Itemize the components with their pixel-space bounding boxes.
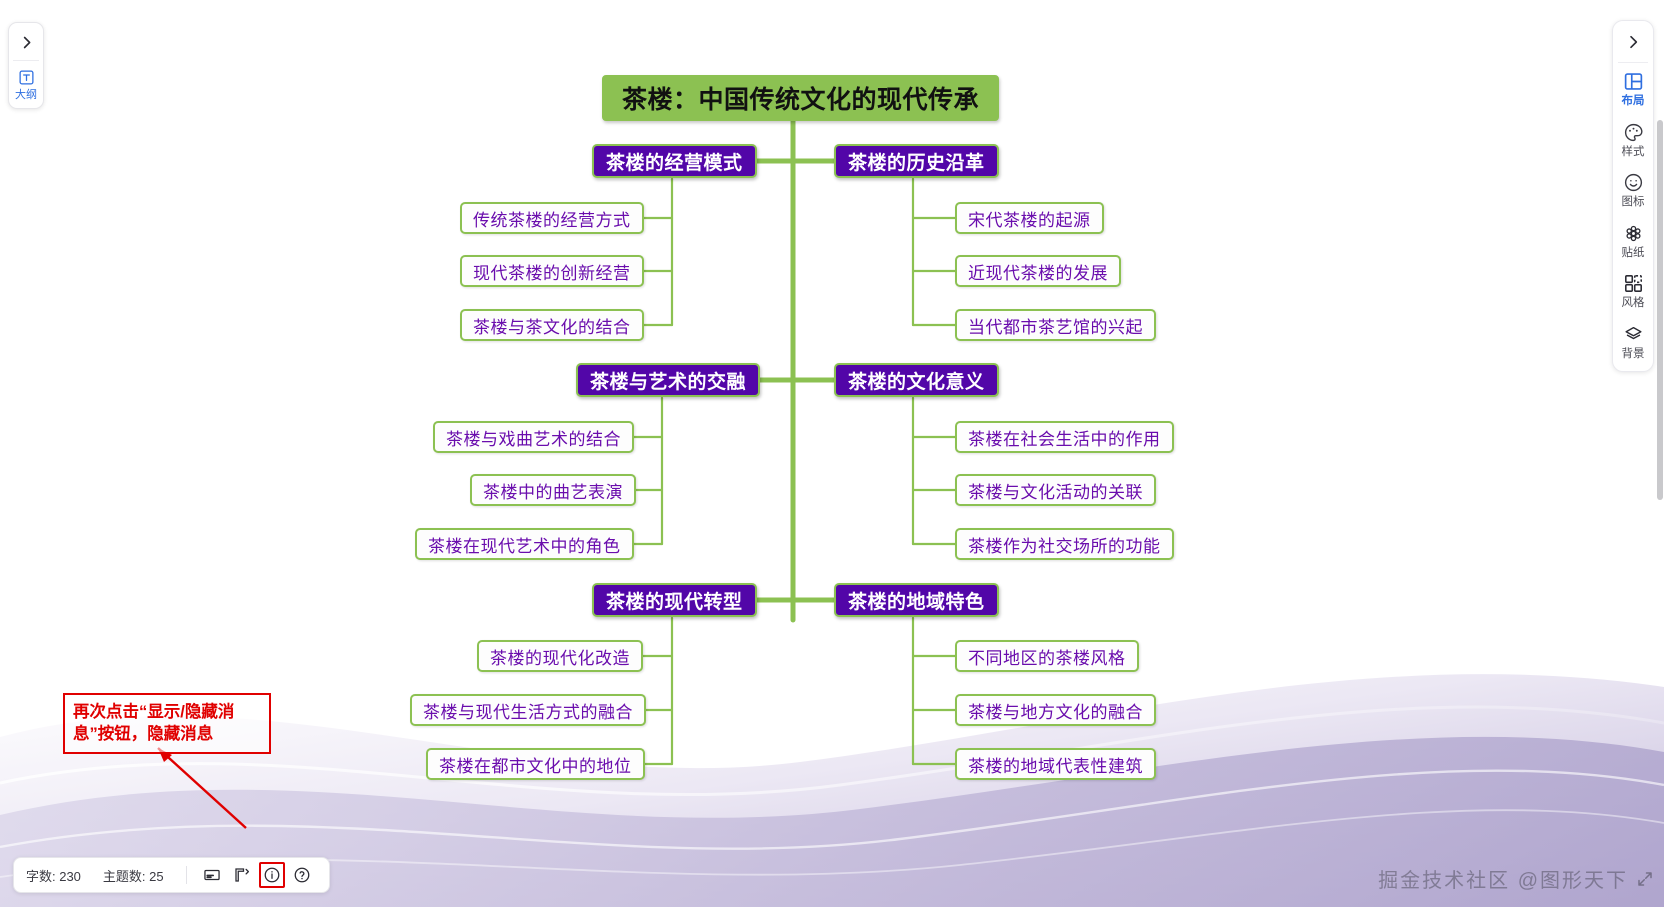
sidebar-item-theme-label: 风格: [1622, 298, 1645, 310]
mindmap-leaf-node[interactable]: 茶楼在现代艺术中的角色: [415, 528, 634, 560]
expand-right-panel-button[interactable]: [1619, 28, 1647, 56]
mindmap-leaf-node[interactable]: 传统茶楼的经营方式: [460, 202, 644, 234]
note-card-icon[interactable]: [199, 862, 225, 888]
mindmap-connectors: [0, 0, 1664, 907]
sidebar-item-background-label: 背景: [1622, 349, 1645, 361]
mindmap-leaf-node[interactable]: 现代茶楼的创新经营: [460, 255, 644, 287]
text-outline-icon: [16, 67, 37, 88]
sidebar-item-background[interactable]: 背景: [1622, 323, 1645, 361]
rail-divider: [13, 60, 39, 61]
mindmap-leaf-node[interactable]: 茶楼与文化活动的关联: [955, 474, 1156, 506]
mindmap-leaf-node[interactable]: 茶楼中的曲艺表演: [470, 474, 636, 506]
mindmap-branch-node[interactable]: 茶楼的地域特色: [834, 583, 999, 617]
mindmap-root-node[interactable]: 茶楼：中国传统文化的现代传承: [602, 75, 999, 121]
mindmap-branch-node[interactable]: 茶楼的文化意义: [834, 363, 999, 397]
mindmap-leaf-node[interactable]: 茶楼在社会生活中的作用: [955, 421, 1174, 453]
sidebar-item-sticker-label: 贴纸: [1622, 248, 1645, 260]
rail-divider: [1618, 62, 1648, 63]
palette-icon: [1622, 121, 1645, 144]
layout-icon: [1622, 70, 1645, 93]
mindmap-branch-node[interactable]: 茶楼的现代转型: [592, 583, 757, 617]
left-tool-rail[interactable]: 大纲: [8, 22, 44, 109]
mindmap-branch-node[interactable]: 茶楼与艺术的交融: [576, 363, 760, 397]
sidebar-item-style[interactable]: 样式: [1622, 121, 1645, 159]
ruler-icon[interactable]: [229, 862, 255, 888]
vertical-scrollbar[interactable]: [1657, 120, 1663, 500]
mindmap-leaf-node[interactable]: 近现代茶楼的发展: [955, 255, 1121, 287]
instruction-callout: 再次点击“显示/隐藏消息”按钮，隐藏消息: [63, 693, 271, 754]
mindmap-branch-node[interactable]: 茶楼的经营模式: [592, 144, 757, 178]
mindmap-leaf-node[interactable]: 茶楼的现代化改造: [477, 640, 643, 672]
sidebar-item-icon[interactable]: 图标: [1622, 171, 1645, 209]
statusbar-divider: [186, 866, 187, 884]
topic-count-label: 主题数: 25: [103, 866, 164, 885]
mindmap-leaf-node[interactable]: 茶楼在都市文化中的地位: [426, 748, 645, 780]
expand-left-panel-button[interactable]: [13, 29, 39, 55]
mindmap-canvas[interactable]: 茶楼：中国传统文化的现代传承 茶楼的经营模式 传统茶楼的经营方式 现代茶楼的创新…: [0, 0, 1664, 907]
sidebar-item-style-label: 样式: [1622, 147, 1645, 159]
sidebar-item-sticker[interactable]: 贴纸: [1622, 222, 1645, 260]
help-circle-icon[interactable]: [289, 862, 315, 888]
mindmap-leaf-node[interactable]: 茶楼的地域代表性建筑: [955, 748, 1156, 780]
word-count-label: 字数: 230: [26, 866, 81, 885]
sidebar-item-layout-label: 布局: [1622, 96, 1645, 108]
mindmap-leaf-node[interactable]: 茶楼与地方文化的融合: [955, 694, 1156, 726]
sidebar-item-theme[interactable]: 风格: [1622, 272, 1645, 310]
grid-squares-icon: [1622, 272, 1645, 295]
status-bar: 字数: 230 主题数: 25: [13, 857, 330, 893]
sidebar-item-outline[interactable]: 大纲: [15, 67, 37, 101]
sidebar-item-icon-label: 图标: [1622, 197, 1645, 209]
mindmap-leaf-node[interactable]: 茶楼与戏曲艺术的结合: [433, 421, 634, 453]
sticker-flower-icon: [1622, 222, 1645, 245]
sidebar-item-layout[interactable]: 布局: [1622, 70, 1645, 108]
mindmap-leaf-node[interactable]: 宋代茶楼的起源: [955, 202, 1104, 234]
sidebar-item-outline-label: 大纲: [15, 90, 37, 101]
mindmap-leaf-node[interactable]: 茶楼与茶文化的结合: [460, 309, 644, 341]
smiley-icon: [1622, 171, 1645, 194]
chevron-right-icon: [1625, 34, 1641, 50]
mindmap-branch-node[interactable]: 茶楼的历史沿革: [834, 144, 999, 178]
right-tool-rail[interactable]: 布局 样式 图标: [1612, 20, 1654, 372]
mindmap-leaf-node[interactable]: 茶楼与现代生活方式的融合: [410, 694, 646, 726]
mindmap-leaf-node[interactable]: 不同地区的茶楼风格: [955, 640, 1139, 672]
instruction-callout-text: 再次点击“显示/隐藏消息”按钮，隐藏消息: [73, 701, 261, 746]
chevron-right-icon: [19, 35, 34, 50]
mindmap-leaf-node[interactable]: 茶楼作为社交场所的功能: [955, 528, 1174, 560]
layers-icon: [1622, 323, 1645, 346]
info-circle-icon[interactable]: [259, 862, 285, 888]
mindmap-leaf-node[interactable]: 当代都市茶艺馆的兴起: [955, 309, 1156, 341]
